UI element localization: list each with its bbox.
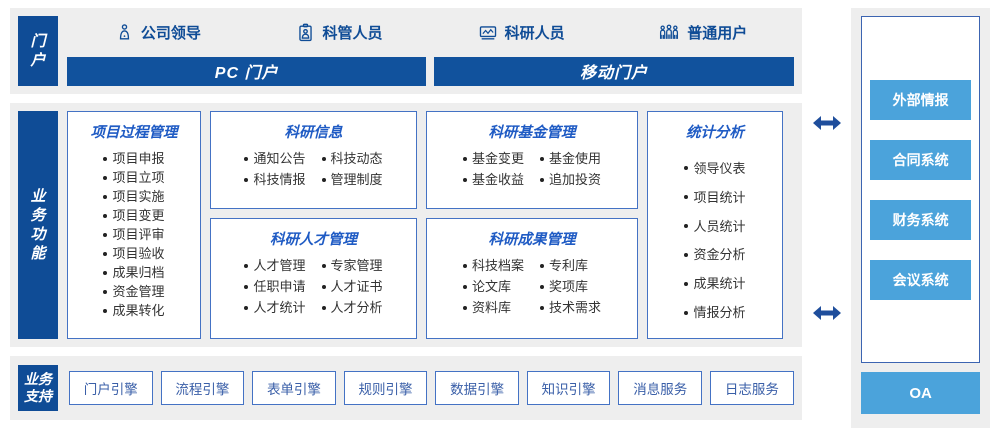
- list-item-label: 技术需求: [549, 298, 601, 317]
- list-item-label: 项目申报: [112, 149, 164, 168]
- bullet-icon: [103, 157, 107, 161]
- card-statistical-analysis[interactable]: 统计分析 领导仪表 项目统计 人员统计 资金分析 成果统计 情报分析: [647, 111, 783, 339]
- architecture-diagram: 门户 公司领导: [0, 0, 1000, 436]
- list-item-label: 资金分析: [693, 245, 745, 264]
- list-item-label: 成果归档: [112, 263, 164, 282]
- bullet-icon: [244, 285, 248, 289]
- list-item-label: 人才管理: [253, 256, 305, 275]
- service-log[interactable]: 日志服务: [710, 371, 794, 405]
- function-column-3: 科研基金管理 基金变更 基金使用 基金收益 追加投资 科研成果管理 科技档案 专…: [426, 111, 638, 339]
- role-company-leader[interactable]: 公司领导: [67, 22, 249, 43]
- bullet-icon: [463, 264, 467, 268]
- card-research-fund-management[interactable]: 科研基金管理 基金变更 基金使用 基金收益 追加投资: [426, 111, 638, 209]
- bullet-icon: [540, 157, 544, 161]
- list-item-label: 资料库: [472, 298, 511, 317]
- role-normal-user-label: 普通用户: [687, 22, 747, 43]
- business-function-body: 项目过程管理 项目申报 项目立项 项目实施 项目变更 项目评审 项目验收 成果归…: [67, 111, 794, 339]
- list-item[interactable]: 项目申报: [103, 149, 164, 168]
- list-item-label: 追加投资: [549, 170, 601, 189]
- card-item-list: 通知公告 科技动态 科技情报 管理制度: [217, 149, 410, 189]
- portal-entry-pc[interactable]: PC 门户: [67, 57, 426, 86]
- list-item[interactable]: 专家管理: [322, 256, 383, 275]
- business-support-band: 业务支持 门户引擎 流程引擎 表单引擎 规则引擎 数据引擎 知识引擎 消息服务 …: [10, 356, 802, 420]
- list-item-label: 基金收益: [472, 170, 524, 189]
- external-system-finance[interactable]: 财务系统: [870, 200, 971, 240]
- list-item-label: 情报分析: [693, 303, 745, 322]
- list-item-label: 科技动态: [331, 149, 383, 168]
- list-item-label: 成果转化: [112, 301, 164, 320]
- portal-band-label: 门户: [18, 16, 58, 86]
- list-item-label: 专利库: [549, 256, 588, 275]
- bullet-icon: [684, 224, 688, 228]
- bullet-icon: [103, 176, 107, 180]
- bullet-icon: [322, 285, 326, 289]
- bullet-icon: [684, 253, 688, 257]
- bullet-icon: [103, 195, 107, 199]
- business-support-band-label-text: 业务支持: [24, 371, 52, 405]
- list-item[interactable]: 任职申请: [244, 277, 305, 296]
- double-arrow-top-icon: [812, 113, 842, 133]
- external-system-meeting[interactable]: 会议系统: [870, 260, 971, 300]
- list-item-label: 基金变更: [472, 149, 524, 168]
- bullet-icon: [103, 214, 107, 218]
- list-item[interactable]: 科技情报: [244, 170, 305, 189]
- list-item[interactable]: 科技动态: [322, 149, 383, 168]
- role-research-admin-label: 科管人员: [322, 22, 382, 43]
- list-item[interactable]: 项目验收: [103, 244, 164, 263]
- portal-entry-mobile[interactable]: 移动门户: [434, 57, 793, 86]
- list-item-label: 基金使用: [549, 149, 601, 168]
- bullet-icon: [463, 157, 467, 161]
- bullet-icon: [244, 178, 248, 182]
- external-system-contract[interactable]: 合同系统: [870, 140, 971, 180]
- bullet-icon: [322, 264, 326, 268]
- list-item-label: 奖项库: [549, 277, 588, 296]
- engine-knowledge[interactable]: 知识引擎: [527, 371, 611, 405]
- card-research-talent-management[interactable]: 科研人才管理 人才管理 专家管理 任职申请 人才证书 人才统计 人才分析: [210, 218, 417, 339]
- list-item[interactable]: 人员统计: [684, 217, 745, 236]
- list-item[interactable]: 人才分析: [322, 298, 383, 317]
- card-item-list: 基金变更 基金使用 基金收益 追加投资: [433, 149, 631, 189]
- card-item-list: 人才管理 专家管理 任职申请 人才证书 人才统计 人才分析: [217, 256, 410, 317]
- card-title: 项目过程管理: [74, 121, 194, 142]
- list-item[interactable]: 技术需求: [540, 298, 601, 317]
- card-title: 科研人才管理: [217, 228, 410, 249]
- list-item-label: 人才证书: [331, 277, 383, 296]
- bullet-icon: [244, 157, 248, 161]
- list-item-label: 领导仪表: [693, 159, 745, 178]
- list-item[interactable]: 资料库: [463, 298, 524, 317]
- double-arrow-bottom-icon: [812, 303, 842, 323]
- list-item-label: 任职申请: [253, 277, 305, 296]
- external-systems-column: 外部情报 合同系统 财务系统 会议系统 OA: [851, 8, 990, 428]
- business-function-band-label: 业务功能: [18, 111, 58, 339]
- list-item[interactable]: 论文库: [463, 277, 524, 296]
- card-title: 统计分析: [654, 121, 776, 142]
- connector-arrows: [812, 8, 842, 428]
- role-normal-user[interactable]: 普通用户: [612, 22, 794, 43]
- list-item-label: 项目评审: [112, 225, 164, 244]
- list-item-label: 人才统计: [253, 298, 305, 317]
- list-item-label: 项目统计: [693, 188, 745, 207]
- engine-portal[interactable]: 门户引擎: [69, 371, 153, 405]
- list-item[interactable]: 项目实施: [103, 187, 164, 206]
- bullet-icon: [684, 166, 688, 170]
- bullet-icon: [244, 264, 248, 268]
- bullet-icon: [103, 271, 107, 275]
- list-item-label: 专家管理: [331, 256, 383, 275]
- bullet-icon: [103, 233, 107, 237]
- list-item-label: 成果统计: [693, 274, 745, 293]
- list-item[interactable]: 基金收益: [463, 170, 524, 189]
- list-item[interactable]: 项目评审: [103, 225, 164, 244]
- bullet-icon: [103, 309, 107, 313]
- role-row: 公司领导 科管人员: [67, 16, 794, 49]
- list-item-label: 人才分析: [331, 298, 383, 317]
- list-item[interactable]: 管理制度: [322, 170, 383, 189]
- list-item[interactable]: 领导仪表: [684, 159, 745, 178]
- list-item-label: 资金管理: [112, 282, 164, 301]
- leader-person-icon: [115, 23, 134, 42]
- bullet-icon: [540, 285, 544, 289]
- people-group-icon: [658, 23, 680, 42]
- list-item[interactable]: 科技档案: [463, 256, 524, 275]
- list-item[interactable]: 奖项库: [540, 277, 601, 296]
- business-function-band: 业务功能 项目过程管理 项目申报 项目立项 项目实施 项目变更 项目评审 项目验…: [10, 103, 802, 347]
- engine-data[interactable]: 数据引擎: [435, 371, 519, 405]
- card-item-list: 项目申报 项目立项 项目实施 项目变更 项目评审 项目验收 成果归档 资金管理 …: [74, 149, 194, 320]
- function-column-4: 统计分析 领导仪表 项目统计 人员统计 资金分析 成果统计 情报分析: [647, 111, 783, 339]
- list-item-label: 项目验收: [112, 244, 164, 263]
- portal-body: 公司领导 科管人员: [67, 16, 794, 86]
- function-column-1: 项目过程管理 项目申报 项目立项 项目实施 项目变更 项目评审 项目验收 成果归…: [67, 111, 201, 339]
- bullet-icon: [244, 306, 248, 310]
- list-item[interactable]: 项目统计: [684, 188, 745, 207]
- bullet-icon: [684, 282, 688, 286]
- list-item-label: 项目变更: [112, 206, 164, 225]
- bullet-icon: [540, 178, 544, 182]
- list-item[interactable]: 情报分析: [684, 303, 745, 322]
- list-item[interactable]: 基金使用: [540, 149, 601, 168]
- id-badge-icon: [296, 23, 315, 42]
- bullet-icon: [684, 311, 688, 315]
- bullet-icon: [540, 306, 544, 310]
- business-support-band-label: 业务支持: [18, 365, 58, 411]
- function-column-2: 科研信息 通知公告 科技动态 科技情报 管理制度 科研人才管理 人才管理 专家管…: [210, 111, 417, 339]
- list-item[interactable]: 专利库: [540, 256, 601, 275]
- bullet-icon: [322, 157, 326, 161]
- list-item[interactable]: 资金管理: [103, 282, 164, 301]
- list-item-label: 人员统计: [693, 217, 745, 236]
- card-title: 科研信息: [217, 121, 410, 142]
- external-system-intelligence[interactable]: 外部情报: [870, 80, 971, 120]
- card-item-list: 科技档案 专利库 论文库 奖项库 资料库 技术需求: [433, 256, 631, 317]
- list-item-label: 项目实施: [112, 187, 164, 206]
- list-item[interactable]: 人才管理: [244, 256, 305, 275]
- card-title: 科研基金管理: [433, 121, 631, 142]
- list-item[interactable]: 资金分析: [684, 245, 745, 264]
- role-company-leader-label: 公司领导: [141, 22, 201, 43]
- bullet-icon: [684, 195, 688, 199]
- external-system-oa[interactable]: OA: [861, 372, 980, 414]
- portal-band-label-text: 门户: [31, 32, 46, 70]
- list-item[interactable]: 追加投资: [540, 170, 601, 189]
- engine-form[interactable]: 表单引擎: [252, 371, 336, 405]
- engine-rule[interactable]: 规则引擎: [344, 371, 428, 405]
- list-item[interactable]: 项目变更: [103, 206, 164, 225]
- list-item[interactable]: 人才证书: [322, 277, 383, 296]
- list-item[interactable]: 项目立项: [103, 168, 164, 187]
- bullet-icon: [463, 178, 467, 182]
- card-research-achievement-management[interactable]: 科研成果管理 科技档案 专利库 论文库 奖项库 资料库 技术需求: [426, 218, 638, 339]
- list-item[interactable]: 人才统计: [244, 298, 305, 317]
- monitor-chart-icon: [478, 23, 498, 42]
- role-researcher-label: 科研人员: [505, 22, 565, 43]
- card-item-list: 领导仪表 项目统计 人员统计 资金分析 成果统计 情报分析: [654, 149, 776, 332]
- bullet-icon: [463, 285, 467, 289]
- role-researcher[interactable]: 科研人员: [430, 22, 612, 43]
- list-item[interactable]: 基金变更: [463, 149, 524, 168]
- list-item-label: 科技情报: [253, 170, 305, 189]
- main-column: 门户 公司领导: [10, 8, 802, 428]
- support-engine-row: 门户引擎 流程引擎 表单引擎 规则引擎 数据引擎 知识引擎 消息服务 日志服务: [67, 371, 794, 405]
- portal-entry-row: PC 门户 移动门户: [67, 57, 794, 86]
- bullet-icon: [103, 252, 107, 256]
- list-item[interactable]: 通知公告: [244, 149, 305, 168]
- bullet-icon: [463, 306, 467, 310]
- service-message[interactable]: 消息服务: [618, 371, 702, 405]
- bullet-icon: [103, 290, 107, 294]
- list-item-label: 通知公告: [253, 149, 305, 168]
- external-systems-box: 外部情报 合同系统 财务系统 会议系统: [861, 16, 980, 363]
- card-research-information[interactable]: 科研信息 通知公告 科技动态 科技情报 管理制度: [210, 111, 417, 209]
- engine-process[interactable]: 流程引擎: [161, 371, 245, 405]
- list-item-label: 项目立项: [112, 168, 164, 187]
- list-item[interactable]: 成果统计: [684, 274, 745, 293]
- list-item-label: 科技档案: [472, 256, 524, 275]
- role-research-admin[interactable]: 科管人员: [249, 22, 431, 43]
- card-title: 科研成果管理: [433, 228, 631, 249]
- list-item-label: 论文库: [472, 277, 511, 296]
- list-item[interactable]: 成果转化: [103, 301, 164, 320]
- card-project-process-management[interactable]: 项目过程管理 项目申报 项目立项 项目实施 项目变更 项目评审 项目验收 成果归…: [67, 111, 201, 339]
- bullet-icon: [322, 306, 326, 310]
- bullet-icon: [540, 264, 544, 268]
- business-function-band-label-text: 业务功能: [31, 187, 46, 263]
- list-item-label: 管理制度: [331, 170, 383, 189]
- list-item[interactable]: 成果归档: [103, 263, 164, 282]
- portal-band: 门户 公司领导: [10, 8, 802, 94]
- bullet-icon: [322, 178, 326, 182]
